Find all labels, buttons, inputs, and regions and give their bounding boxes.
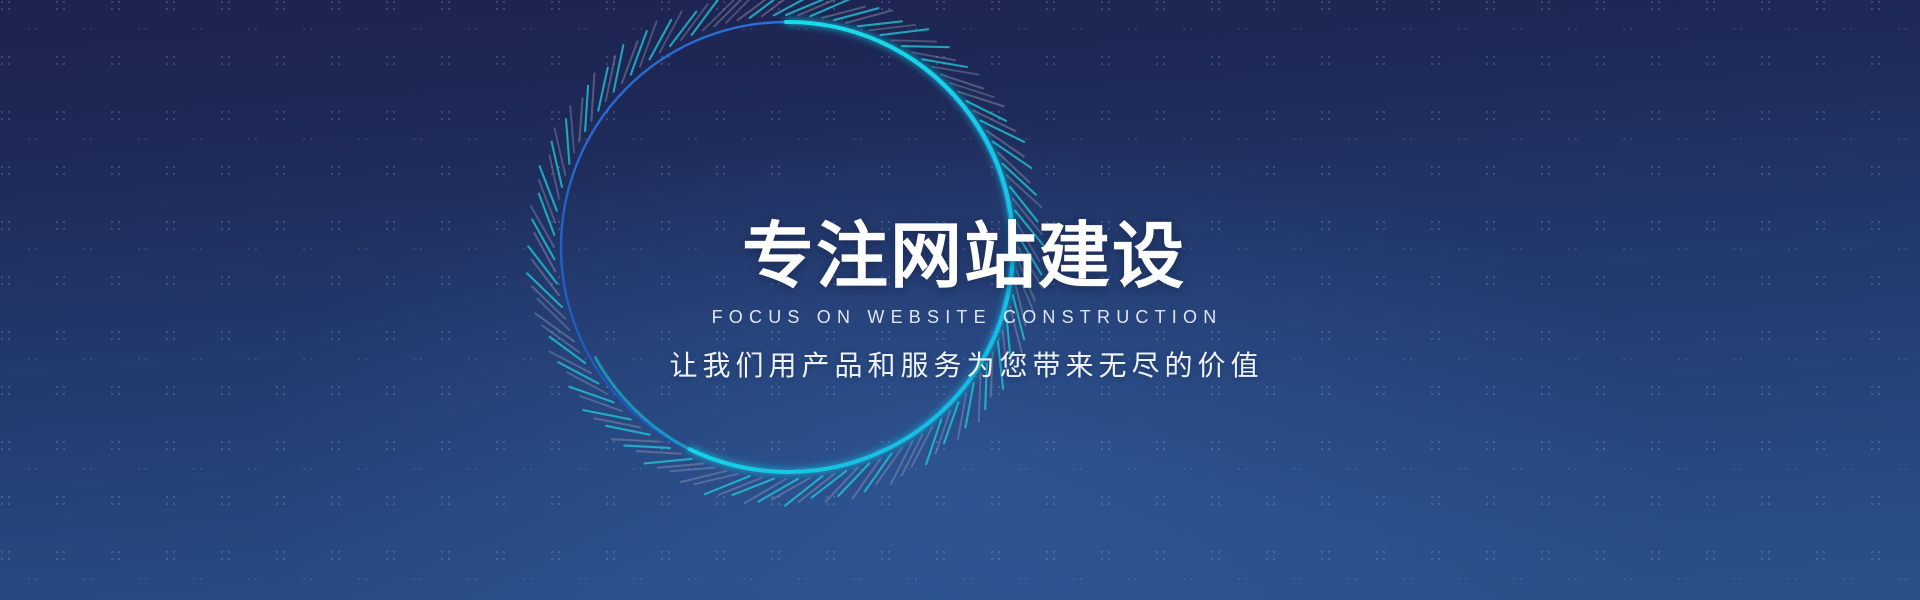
banner-content: 专注网站建设 FOCUS ON WEBSITE CONSTRUCTION 让我们… bbox=[0, 0, 1920, 600]
hero-banner: 专注网站建设 FOCUS ON WEBSITE CONSTRUCTION 让我们… bbox=[0, 0, 1920, 600]
banner-tagline: 让我们用产品和服务为您带来无尽的价值 bbox=[664, 352, 1263, 380]
banner-subtitle: FOCUS ON WEBSITE CONSTRUCTION bbox=[706, 308, 1223, 326]
page-title: 专注网站建设 bbox=[742, 220, 1186, 292]
